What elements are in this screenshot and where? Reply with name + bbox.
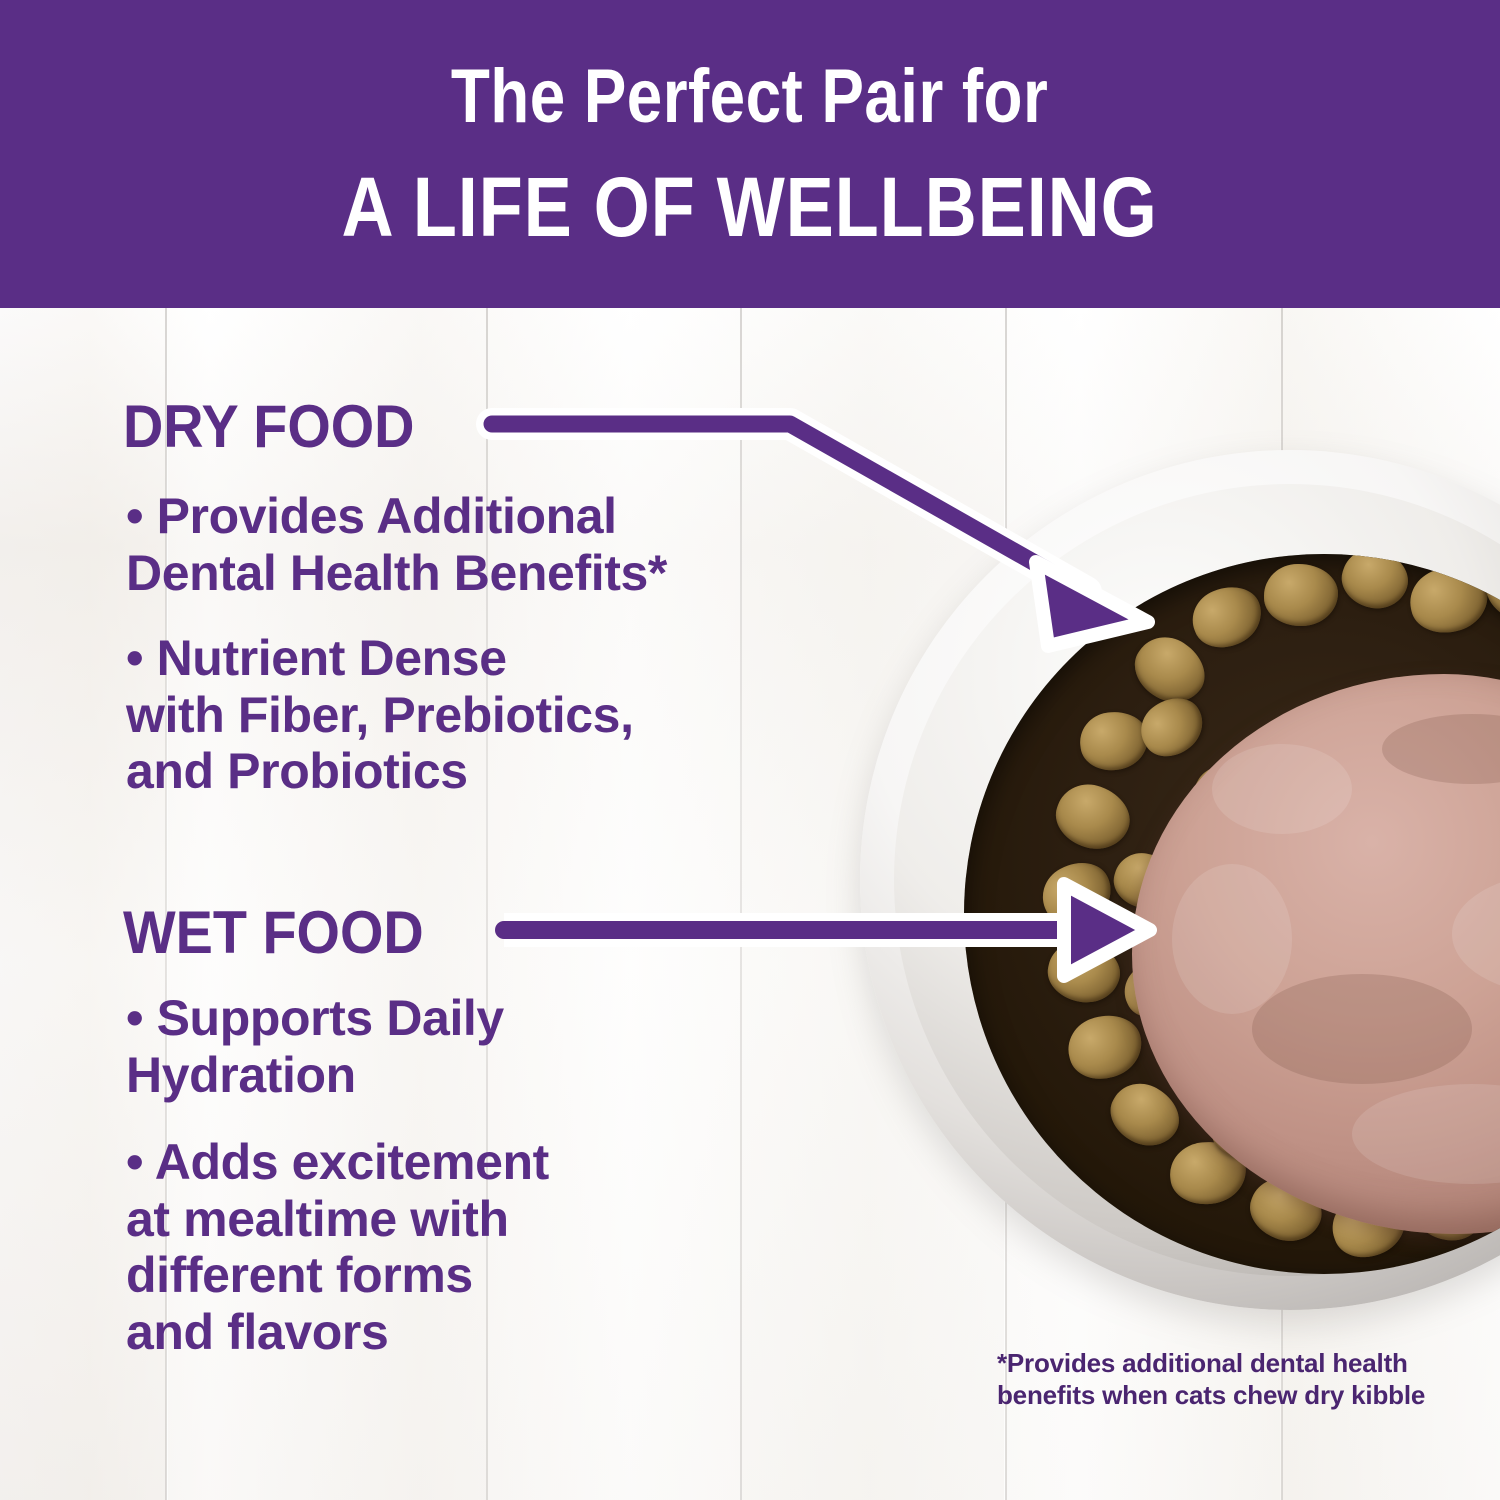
wet-arrow-head [1064, 884, 1150, 976]
bullet-wet-1: • Supports Daily Hydration [126, 990, 826, 1103]
bullet-dry-2: • Nutrient Dense with Fiber, Prebiotics,… [126, 630, 846, 800]
section-heading-dry-food: DRY FOOD [123, 392, 414, 461]
bullet-dry-1: • Provides Additional Dental Health Bene… [126, 488, 846, 601]
footnote-dental-disclaimer: *Provides additional dental health benef… [997, 1348, 1457, 1411]
wet-food-arrow [504, 884, 1150, 976]
promo-infographic: The Perfect Pair for A LIFE OF WELLBEING [0, 0, 1500, 1500]
dry-arrow-head [1036, 562, 1148, 646]
bullet-wet-2: • Adds excitement at mealtime with diffe… [126, 1134, 826, 1360]
section-heading-wet-food: WET FOOD [123, 898, 424, 967]
